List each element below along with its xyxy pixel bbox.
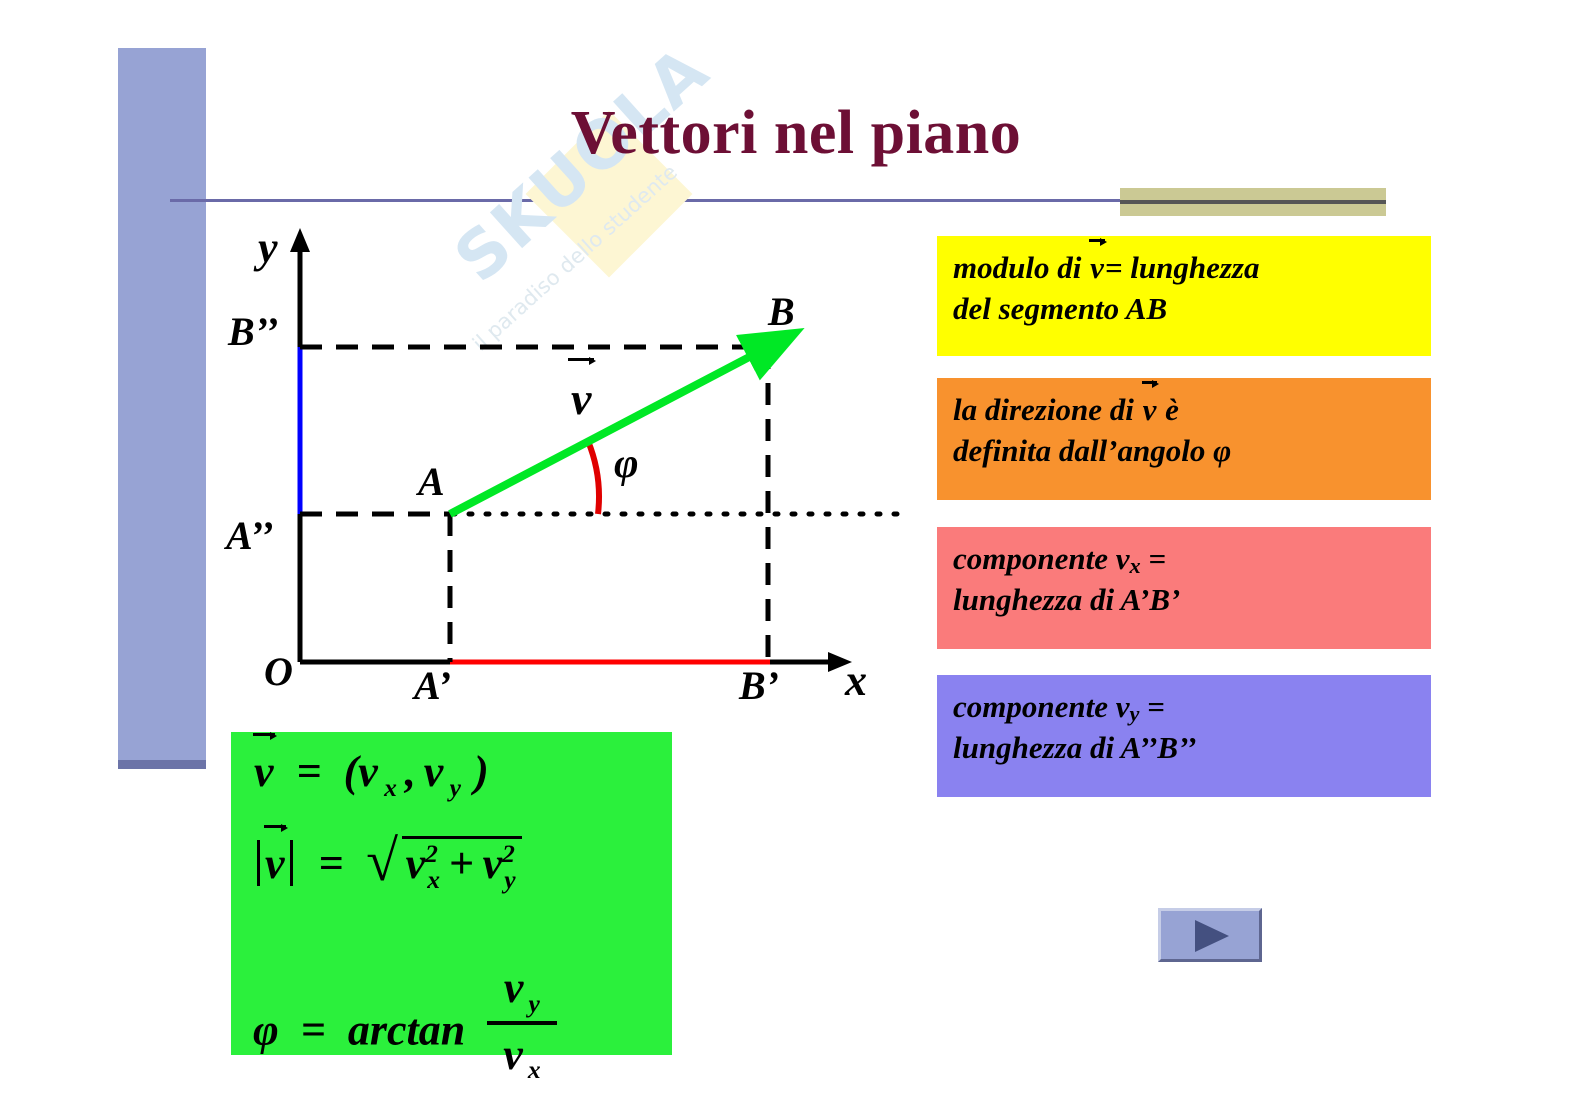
page-title: Vettori nel piano bbox=[206, 98, 1386, 169]
callout-direzione: la direzione di v è definita dall’angolo… bbox=[937, 378, 1431, 500]
callout-vy-post: = bbox=[1139, 689, 1164, 724]
vx-letter: v bbox=[406, 839, 426, 888]
equals-sign: = bbox=[319, 839, 344, 888]
callout-modulo-line1-pre: modulo di bbox=[953, 250, 1089, 285]
callout-componente-vy-line2: lunghezza di A’’B’’ bbox=[953, 728, 1415, 769]
equals-sign: = bbox=[297, 747, 322, 796]
arctan-function: arctan bbox=[348, 1006, 465, 1055]
callout-direzione-line2: definita dall’angolo φ bbox=[953, 431, 1415, 472]
phi-symbol: φ bbox=[253, 1006, 279, 1055]
callout-componente-vx-line2: lunghezza di A’B’ bbox=[953, 580, 1415, 621]
vx-subscript: x bbox=[384, 773, 397, 802]
vector-letter: v bbox=[254, 747, 274, 796]
label-point-b-prime: B’ bbox=[739, 662, 779, 709]
equals-sign: = bbox=[301, 1006, 326, 1055]
vx-letter: v bbox=[503, 1030, 523, 1079]
fraction: vy vx bbox=[487, 962, 556, 1085]
callout-vy-pre: componente v bbox=[953, 689, 1130, 724]
vy-letter: v bbox=[424, 747, 444, 796]
vector-arrow-glyph: v bbox=[568, 372, 594, 425]
vector-v-arrow bbox=[450, 354, 755, 514]
vector-arrow-glyph: v bbox=[253, 746, 275, 797]
vector-arrow-glyph: v bbox=[264, 838, 286, 889]
label-point-a: A bbox=[418, 458, 445, 505]
formula-angle-arctan: φ = arctan vy vx bbox=[253, 962, 557, 1085]
vy-subscript: y bbox=[450, 773, 461, 802]
callout-modulo-line2: del segmento AB bbox=[953, 289, 1415, 330]
callout-modulo-line1-post: = lunghezza bbox=[1105, 250, 1260, 285]
callout-direzione-line1: la direzione di v è bbox=[953, 390, 1415, 431]
formula-vector-components: v = (vx,vy) bbox=[253, 746, 489, 803]
paren-open: ( bbox=[344, 747, 359, 796]
callout-modulo-line1: modulo di v= lunghezza bbox=[953, 248, 1415, 289]
vector-bar bbox=[568, 358, 594, 361]
formula-box: v = (vx,vy) v = √ v2x+v2y φ = arctan vy … bbox=[231, 732, 672, 1055]
y-axis-arrowhead bbox=[290, 228, 310, 252]
next-slide-button[interactable] bbox=[1158, 908, 1262, 962]
vector-arrow-glyph: v bbox=[1142, 390, 1158, 431]
callout-componente-vy-line1: componente vy = bbox=[953, 687, 1415, 728]
vector-bar bbox=[1089, 239, 1105, 242]
axis-label-x: x bbox=[845, 655, 867, 706]
vector-bar bbox=[264, 825, 286, 828]
vx-subscript: x bbox=[427, 865, 440, 894]
callout-vx-sub: x bbox=[1130, 553, 1141, 578]
label-origin: O bbox=[264, 648, 293, 695]
label-point-b: B bbox=[768, 288, 795, 335]
label-point-b-second: B’’ bbox=[228, 308, 278, 355]
top-right-accent-line bbox=[1120, 200, 1386, 204]
vector-letter: v bbox=[1143, 392, 1157, 427]
callout-componente-vy: componente vy = lunghezza di A’’B’’ bbox=[937, 675, 1431, 797]
vx-letter: v bbox=[358, 747, 378, 796]
left-decorative-bar-foot bbox=[118, 760, 206, 769]
callout-vx-pre: componente v bbox=[953, 541, 1130, 576]
vector-bar bbox=[253, 733, 275, 736]
vy-subscript: y bbox=[504, 865, 515, 894]
vector-letter: v bbox=[1090, 250, 1104, 285]
vy-exponent: 2 bbox=[502, 839, 515, 868]
callout-componente-vx: componente vx = lunghezza di A’B’ bbox=[937, 527, 1431, 649]
vx-exponent: 2 bbox=[425, 839, 438, 868]
label-point-a-prime: A’ bbox=[414, 662, 451, 709]
vy-letter: v bbox=[483, 839, 503, 888]
callout-direzione-line1-pre: la direzione di bbox=[953, 392, 1142, 427]
radical-vinculum bbox=[402, 836, 522, 839]
play-triangle-icon bbox=[1195, 920, 1229, 952]
callout-modulo: modulo di v= lunghezza del segmento AB bbox=[937, 236, 1431, 356]
callout-vx-post: = bbox=[1141, 541, 1166, 576]
vx-subscript: x bbox=[528, 1055, 541, 1084]
plus-sign: + bbox=[449, 839, 474, 888]
vector-letter: v bbox=[571, 373, 591, 424]
axis-label-y: y bbox=[258, 222, 278, 273]
vy-subscript: y bbox=[529, 989, 540, 1018]
callout-vy-sub: y bbox=[1130, 701, 1140, 726]
label-angle-phi: φ bbox=[614, 440, 639, 488]
paren-close: ) bbox=[474, 747, 489, 796]
formula-vector-magnitude: v = √ v2x+v2y bbox=[253, 836, 516, 895]
fraction-numerator: vy bbox=[487, 962, 556, 1021]
callout-direzione-line1-post: è bbox=[1157, 392, 1179, 427]
angle-arc bbox=[588, 441, 599, 514]
vector-letter: v bbox=[265, 839, 285, 888]
label-point-a-second: A’’ bbox=[226, 512, 273, 559]
fraction-denominator: vx bbox=[487, 1021, 556, 1086]
abs-bar-left bbox=[257, 840, 260, 886]
vy-letter: v bbox=[504, 963, 524, 1012]
label-vector-v: v bbox=[568, 372, 594, 425]
radical-icon: √ bbox=[366, 832, 398, 890]
callout-componente-vx-line1: componente vx = bbox=[953, 539, 1415, 580]
abs-bar-right bbox=[290, 840, 293, 886]
vector-bar bbox=[1142, 381, 1158, 384]
square-root-group: √ v2x+v2y bbox=[366, 836, 516, 895]
vector-arrow-glyph: v bbox=[1089, 248, 1105, 289]
comma: , bbox=[405, 747, 416, 796]
